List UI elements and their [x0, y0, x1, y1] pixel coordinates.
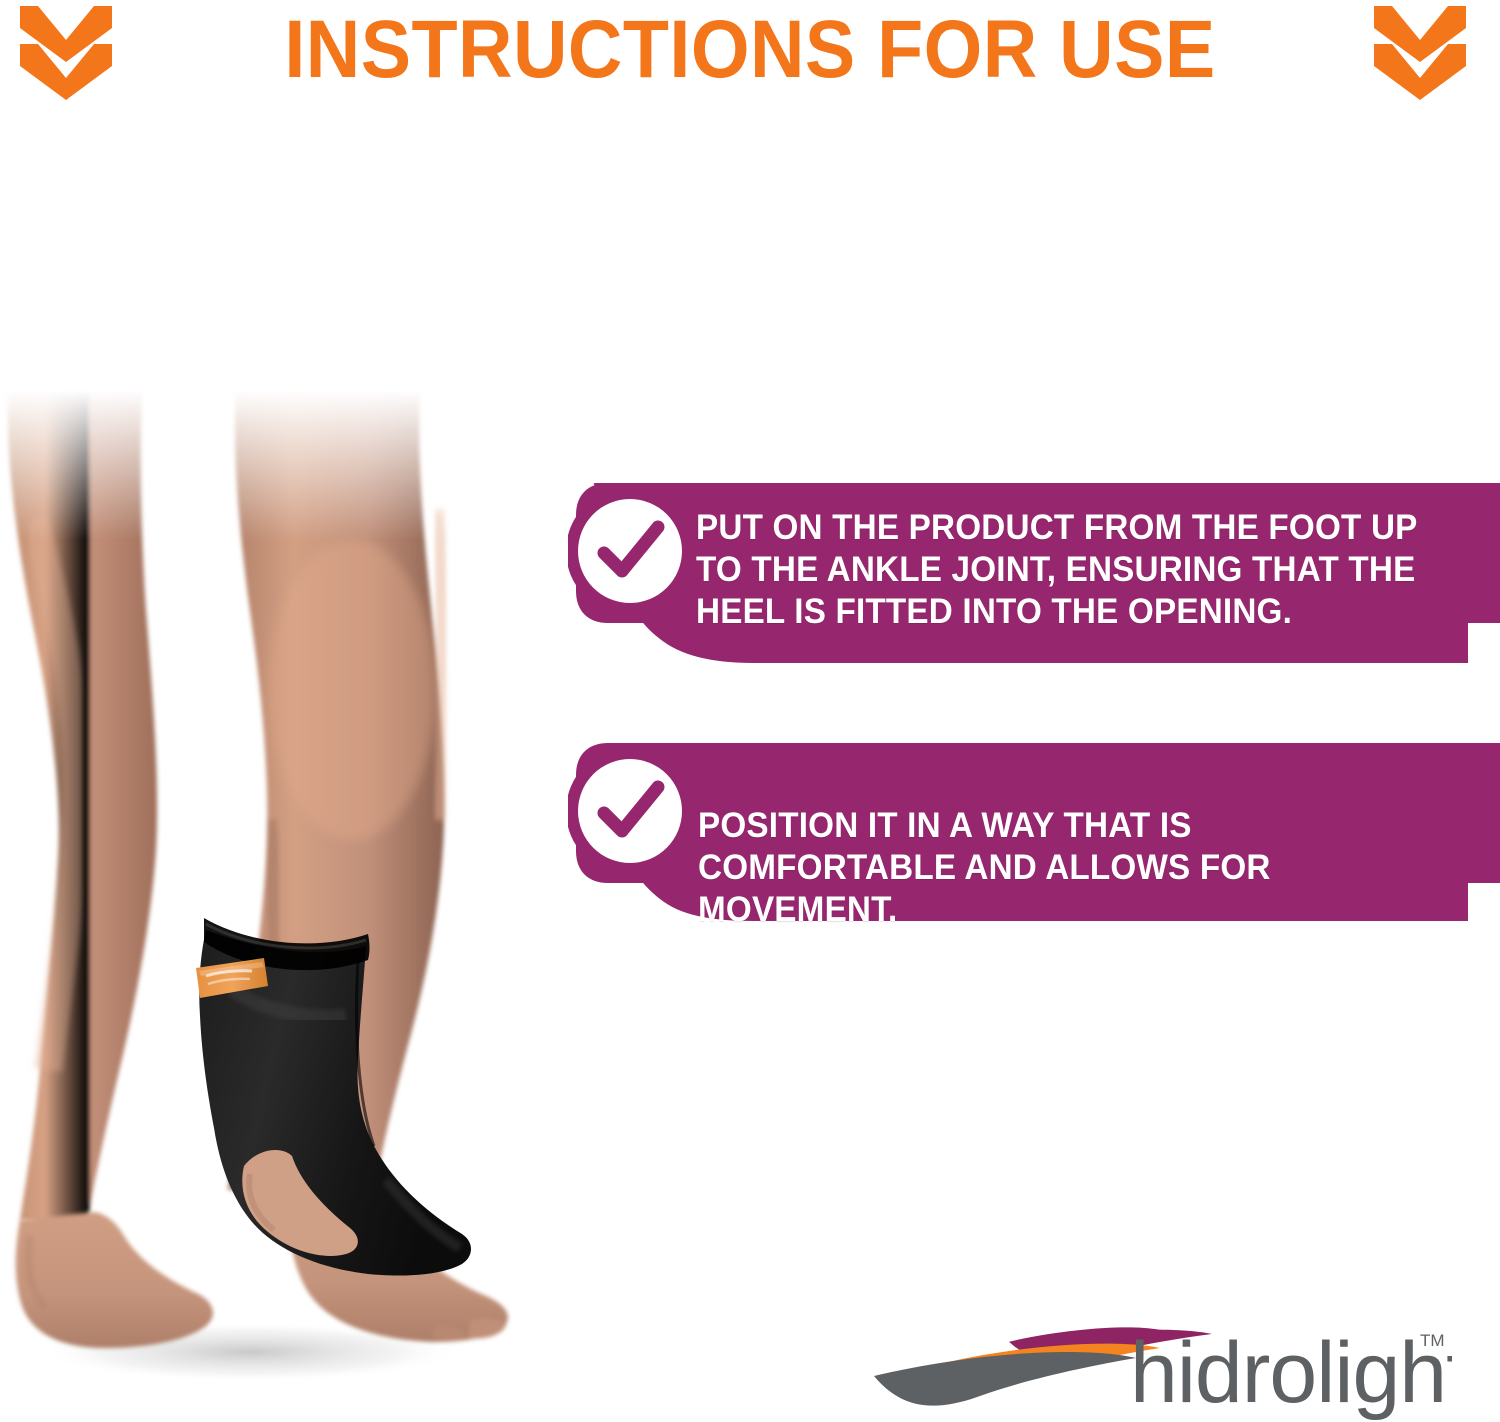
product-photo [0, 390, 540, 1390]
chevron-down-icon [1374, 44, 1466, 100]
callout-step-1-text: PUT ON THE PRODUCT FROM THE FOOT UP TO T… [696, 507, 1447, 633]
double-chevron-down-icon-right [1374, 6, 1466, 102]
logo-trademark: TM [1420, 1331, 1445, 1350]
callout-step-1: PUT ON THE PRODUCT FROM THE FOOT UP TO T… [568, 483, 1500, 667]
callout-step-2-text: POSITION IT IN A WAY THAT IS COMFORTABLE… [698, 805, 1458, 931]
brand-logo: hidrolight TM [872, 1316, 1452, 1420]
callout-step-2: POSITION IT IN A WAY THAT IS COMFORTABLE… [568, 743, 1500, 923]
page-title: INSTRUCTIONS FOR USE [60, 2, 1440, 98]
logo-wordmark: hidrolight [1130, 1325, 1452, 1420]
instructions-for-use-page: INSTRUCTIONS FOR USE [0, 0, 1500, 1422]
page-header: INSTRUCTIONS FOR USE [0, 0, 1500, 108]
